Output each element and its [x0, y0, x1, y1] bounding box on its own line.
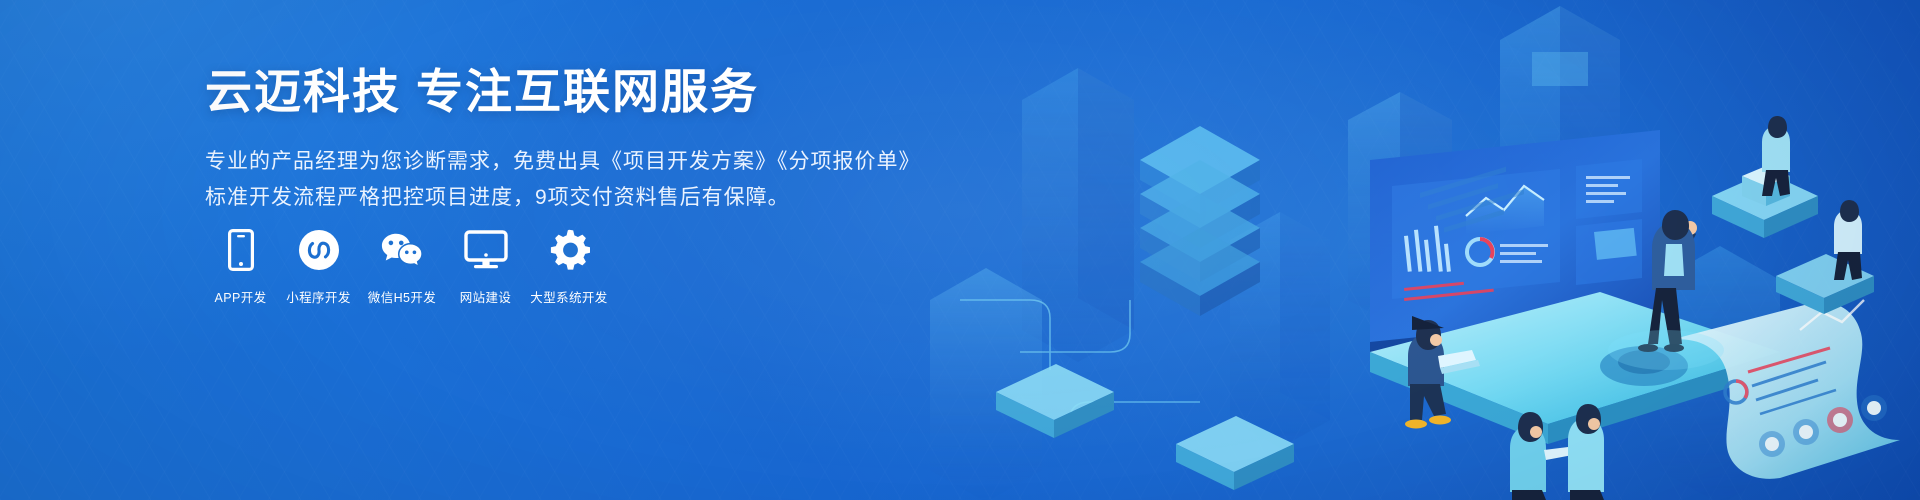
mini-program-icon	[297, 228, 341, 272]
gear-icon	[547, 228, 591, 272]
service-label-app: APP开发	[214, 287, 266, 306]
service-list: APP开发 小程序开发 微信	[203, 228, 615, 306]
service-item-wechat-h5[interactable]: 微信H5开发	[359, 228, 445, 306]
page-title: 云迈科技 专注互联网服务	[205, 66, 905, 118]
service-label-large-system: 大型系统开发	[530, 287, 607, 306]
service-label-mini-program: 小程序开发	[286, 287, 351, 306]
service-item-large-system[interactable]: 大型系统开发	[526, 228, 612, 306]
mobile-phone-icon	[219, 228, 263, 272]
service-item-app[interactable]: APP开发	[203, 228, 278, 306]
wechat-icon	[380, 228, 424, 272]
monitor-icon	[464, 228, 508, 272]
promo-banner: 云迈科技 专注互联网服务 专业的产品经理为您诊断需求，免费出具《项目开发方案》《…	[0, 0, 1920, 500]
banner-subtitle: 专业的产品经理为您诊断需求，免费出具《项目开发方案》《分项报价单》 标准开发流程…	[205, 144, 905, 216]
service-item-website[interactable]: 网站建设	[448, 228, 523, 306]
banner-copy: 云迈科技 专注互联网服务 专业的产品经理为您诊断需求，免费出具《项目开发方案》《…	[205, 66, 905, 216]
server-stack	[1140, 126, 1260, 316]
service-label-website: 网站建设	[460, 287, 512, 306]
subtitle-line-2: 标准开发流程严格把控项目进度，9项交付资料售后有保障。	[205, 180, 905, 216]
isometric-illustration	[900, 0, 1920, 500]
service-item-mini-program[interactable]: 小程序开发	[281, 228, 356, 306]
subtitle-line-1: 专业的产品经理为您诊断需求，免费出具《项目开发方案》《分项报价单》	[205, 144, 905, 180]
service-label-wechat-h5: 微信H5开发	[368, 287, 436, 306]
